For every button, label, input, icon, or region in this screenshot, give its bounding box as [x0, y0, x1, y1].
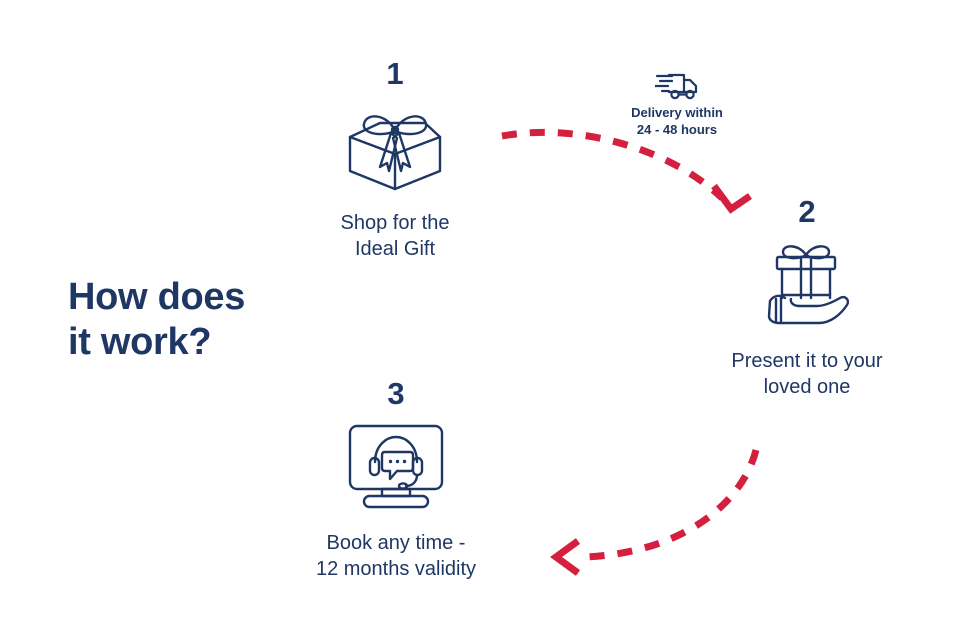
arrow-step2-to-step3: [556, 450, 756, 573]
step-3-label: Book any time - 12 months validity: [296, 531, 496, 582]
step-2: 2: [707, 196, 907, 400]
step-1-label: Shop for the Ideal Gift: [295, 211, 495, 262]
step-1: 1 Shop for the Ideal Gift: [295, 58, 495, 262]
delivery-note: Delivery within 24 - 48 hours: [602, 70, 752, 138]
delivery-truck-icon: [602, 70, 752, 102]
gift-in-hand-icon: [707, 235, 907, 335]
step-3-number: 3: [296, 378, 496, 409]
step-2-number: 2: [707, 196, 907, 227]
infographic-canvas: How does it work?: [0, 0, 980, 640]
step-2-label: Present it to your loved one: [707, 349, 907, 400]
gift-box-icon: [295, 97, 495, 197]
support-monitor-icon: [296, 417, 496, 517]
delivery-note-text: Delivery within 24 - 48 hours: [602, 105, 752, 138]
page-title: How does it work?: [68, 275, 348, 365]
step-1-number: 1: [295, 58, 495, 89]
step-3: 3: [296, 378, 496, 582]
